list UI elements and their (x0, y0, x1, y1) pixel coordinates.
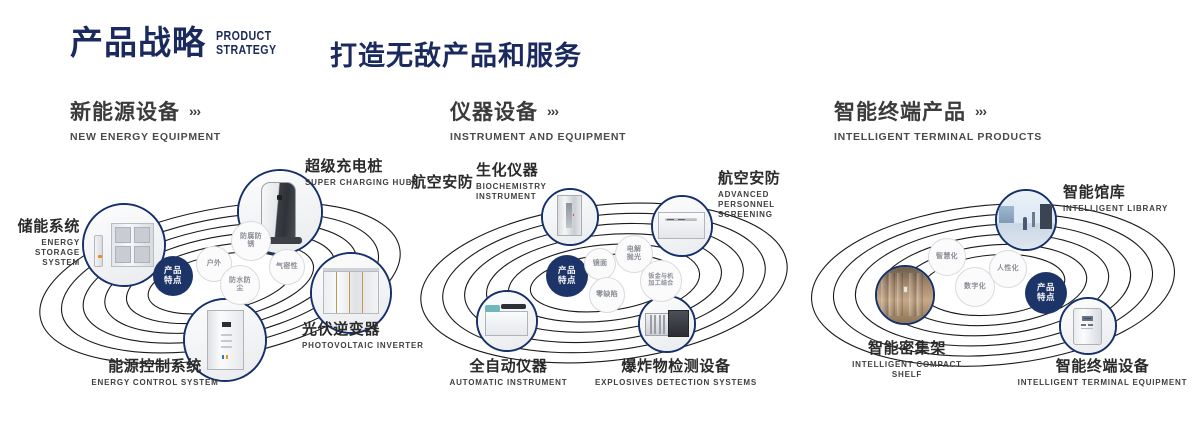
page-subtitle: 打造无敌产品和服务 (330, 34, 582, 73)
label-explosives-detection-systems: 爆炸物检测设备 EXPLOSIVES DETECTION SYSTEMS (586, 355, 766, 388)
auto-instrument-illustration (478, 292, 536, 350)
section-title-cn: 智能终端产品 (834, 96, 966, 126)
orbit-group-new-energy: 储能系统 ENERGY STORAGE SYSTEM 超级充电桩 SUPER C… (20, 155, 420, 405)
page-header: 产品战略 PRODUCT STRATEGY (70, 26, 290, 59)
center-badge-product-features: 产品 特点 (1025, 272, 1067, 314)
page-title-en-line2: STRATEGY (216, 43, 277, 57)
section-title-intelligent-terminal: 智能终端产品 ››› INTELLIGENT TERMINAL PRODUCTS (834, 96, 1042, 143)
chevron-right-icon: ››› (975, 103, 986, 119)
node-intelligent-compact-shelf[interactable] (875, 265, 935, 325)
label-biochemistry-instrument: 生化仪器 BIOCHEMISTRY INSTRUMENT (476, 159, 601, 202)
terminal-kiosk-illustration (1061, 299, 1115, 353)
page-title-english: PRODUCT STRATEGY (216, 29, 277, 56)
orbit-group-intelligent-terminal: 智能馆库 INTELLIGENT LIBRARY 智能密集架 INTELLIGE… (797, 155, 1197, 405)
chevron-right-icon: ››› (189, 103, 200, 119)
section-title-en: NEW ENERGY EQUIPMENT (70, 131, 221, 143)
page-title: 产品战略 (70, 26, 206, 59)
node-explosives-detection-systems[interactable] (638, 295, 696, 353)
feature-bubble-zero-defect: 零缺陷 (589, 277, 625, 313)
label-intelligent-terminal-equipment: 智能终端设备 INTELLIGENT TERMINAL EQUIPMENT (1015, 355, 1190, 388)
feature-bubble-sheetmetal-machining: 钣金与机加工结合 (640, 260, 682, 302)
label-intelligent-compact-shelf: 智能密集架 INTELLIGENT COMPACT SHELF (827, 337, 987, 380)
section-title-en: INSTRUMENT AND EQUIPMENT (450, 131, 626, 143)
feature-bubble-mirror: 镜面 (584, 248, 616, 280)
feature-bubble-airtight: 气密性 (269, 249, 305, 285)
center-badge-product-features: 产品 特点 (153, 256, 193, 296)
section-title-cn: 仪器设备 (450, 96, 538, 126)
label-energy-control-system: 能源控制系统 ENERGY CONTROL SYSTEM (65, 355, 245, 388)
compact-shelf-illustration (877, 267, 933, 323)
orbit-group-instrument: 航空安防 生化仪器 BIOCHEMISTRY INSTRUMENT (406, 155, 806, 405)
feature-bubble-humanized: 人性化 (989, 250, 1027, 288)
explosives-illustration (640, 297, 694, 351)
node-automatic-instrument[interactable] (476, 290, 538, 352)
library-illustration (997, 191, 1055, 249)
label-automatic-instrument: 全自动仪器 AUTOMATIC INSTRUMENT (426, 355, 591, 388)
node-advanced-personnel-screening[interactable] (651, 195, 713, 257)
chevron-right-icon: ››› (547, 103, 558, 119)
section-title-new-energy: 新能源设备 ››› NEW ENERGY EQUIPMENT (70, 96, 221, 143)
page-title-en-line1: PRODUCT (216, 29, 277, 43)
label-intelligent-library: 智能馆库 INTELLIGENT LIBRARY (1063, 181, 1200, 214)
product-strategy-infographic: 产品战略 PRODUCT STRATEGY 打造无敌产品和服务 新能源设备 ››… (0, 0, 1200, 422)
node-intelligent-terminal-equipment[interactable] (1059, 297, 1117, 355)
screening-illustration (653, 197, 711, 255)
energy-storage-illustration (84, 205, 164, 285)
feature-bubble-anticorrosion: 防腐防锈 (231, 221, 271, 261)
section-title-en: INTELLIGENT TERMINAL PRODUCTS (834, 131, 1042, 143)
label-energy-storage-system: 储能系统 ENERGY STORAGE SYSTEM (0, 215, 80, 268)
node-intelligent-library[interactable] (995, 189, 1057, 251)
feature-bubble-intelligent: 智慧化 (928, 238, 966, 276)
center-badge-product-features: 产品 特点 (546, 255, 588, 297)
section-title-cn: 新能源设备 (70, 96, 180, 126)
feature-bubble-waterproof: 防水防尘 (220, 265, 260, 305)
section-title-instrument: 仪器设备 ››› INSTRUMENT AND EQUIPMENT (450, 96, 626, 143)
